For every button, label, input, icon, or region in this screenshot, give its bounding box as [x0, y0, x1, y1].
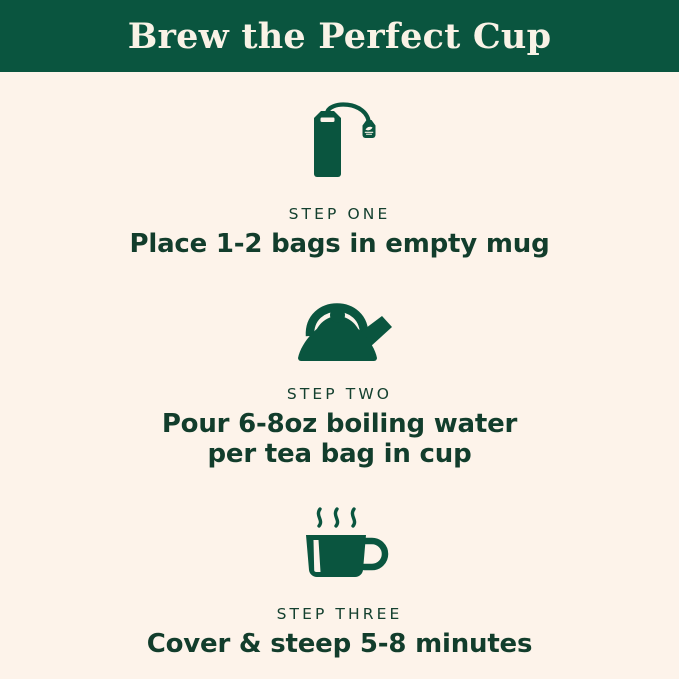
steaming-mug-icon: [280, 496, 400, 593]
header-banner: Brew the Perfect Cup: [0, 0, 679, 72]
tea-bag-icon: [280, 98, 400, 193]
step-three-text: Cover & steep 5-8 minutes: [147, 629, 533, 660]
steps-list: STEP ONE Place 1-2 bags in empty mug: [0, 72, 679, 679]
step-two-text: Pour 6-8oz boiling water per tea bag in …: [140, 409, 540, 470]
step-one-text: Place 1-2 bags in empty mug: [130, 229, 550, 260]
brew-instructions-page: Brew the Perfect Cup: [0, 0, 679, 679]
step-three: STEP THREE Cover & steep 5-8 minutes: [0, 496, 679, 660]
step-two-label: STEP TWO: [287, 385, 392, 403]
kettle-icon: [275, 286, 405, 373]
step-one-label: STEP ONE: [289, 205, 391, 223]
step-two: STEP TWO Pour 6-8oz boiling water per te…: [0, 286, 679, 470]
page-title: Brew the Perfect Cup: [128, 19, 552, 54]
step-one: STEP ONE Place 1-2 bags in empty mug: [0, 98, 679, 260]
step-three-label: STEP THREE: [277, 605, 403, 623]
